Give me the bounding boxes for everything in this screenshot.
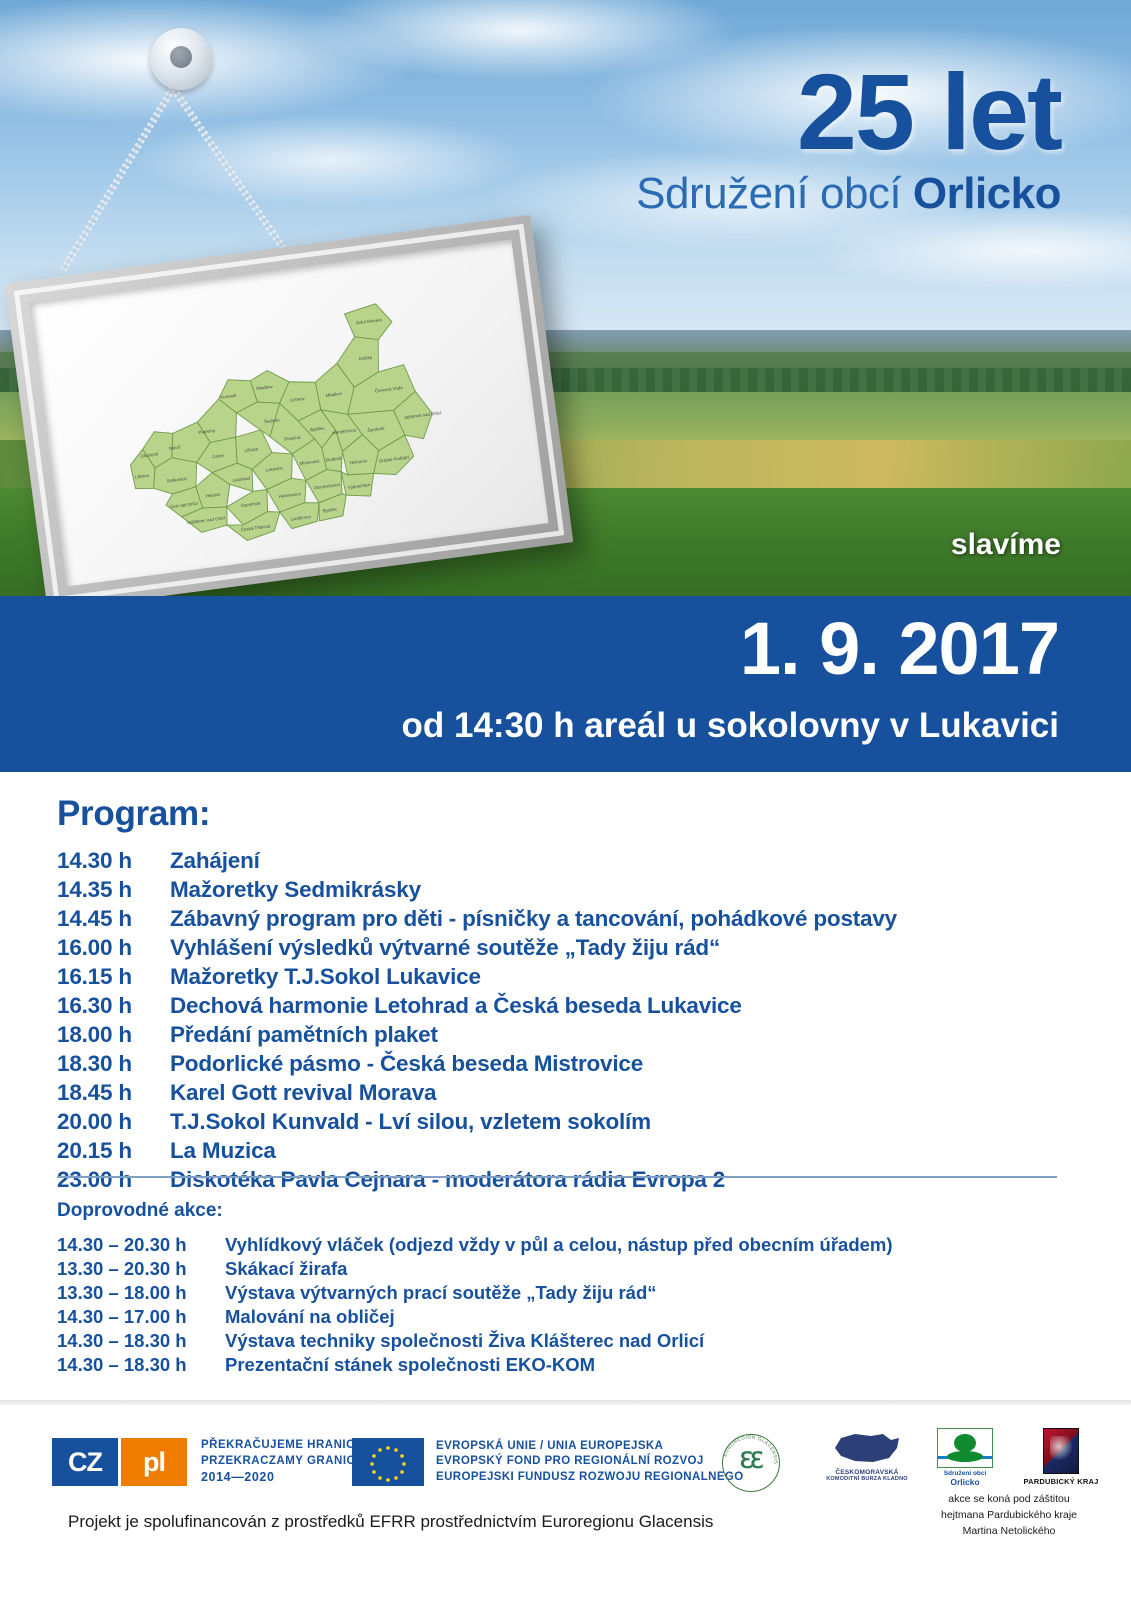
cmkb-line2: KOMODITNÍ BURZA KLADNO [812, 1476, 922, 1482]
program-time: 14.35 h [57, 877, 170, 903]
patronage-note: akce se koná pod záštitou hejtmana Pardu… [909, 1492, 1109, 1539]
accompanying-row: 14.30 – 18.30 h Prezentační stánek spole… [57, 1354, 1067, 1376]
accompanying-label: Malování na obličej [225, 1306, 395, 1328]
program-row: 16.15 h Mažoretky T.J.Sokol Lukavice [57, 964, 1067, 990]
anniversary-title: 25 let [636, 58, 1061, 166]
program-row: 20.00 h T.J.Sokol Kunvald - Lví silou, v… [57, 1109, 1067, 1135]
program-row: 14.45 h Zábavný program pro děti - písni… [57, 906, 1067, 932]
accompanying-time: 14.30 – 18.30 h [57, 1354, 225, 1376]
eu-text-block: EVROPSKÁ UNIE / UNIA EUROPEJSKA EVROPSKÝ… [436, 1439, 744, 1486]
czpl-line1: PŘEKRAČUJEME HRANICE [201, 1438, 364, 1453]
cmkb-shape: B [825, 1428, 909, 1468]
program-row: 23.00 h Diskotéka Pavla Cejnara - moderá… [57, 1167, 1067, 1193]
czpl-pl-block: pl [121, 1438, 187, 1486]
patronage-line3: Martina Netolického [909, 1524, 1109, 1540]
glacensis-ring-text: EUROREGION GLACENSIS [718, 1430, 782, 1494]
program-time: 18.45 h [57, 1080, 170, 1106]
program-row: 18.30 h Podorlické pásmo - Česká beseda … [57, 1051, 1067, 1077]
program-time: 18.30 h [57, 1051, 170, 1077]
pardubicky-label: PARDUBICKÝ KRAJ [1018, 1477, 1104, 1486]
pardubicky-coat-of-arms-icon [1043, 1428, 1079, 1474]
program-time: 14.30 h [57, 848, 170, 874]
accompanying-row: 14.30 – 20.30 h Vyhlídkový vláček (odjez… [57, 1234, 1067, 1256]
program-label: Podorlické pásmo - Česká beseda Mistrovi… [170, 1051, 643, 1077]
accompanying-row: 14.30 – 18.30 h Výstava techniky společn… [57, 1330, 1067, 1352]
funding-note: Projekt je spolufinancován z prostředků … [68, 1512, 713, 1532]
accompanying-label: Vyhlídkový vláček (odjezd vždy v půl a c… [225, 1234, 893, 1256]
accompanying-label: Výstava výtvarných prací soutěže „Tady ž… [225, 1282, 657, 1304]
eu-stars-svg [352, 1438, 424, 1486]
program-label: T.J.Sokol Kunvald - Lví silou, vzletem s… [170, 1109, 651, 1135]
program-heading: Program: [57, 794, 210, 834]
accompanying-heading: Doprovodné akce: [57, 1200, 223, 1222]
footer-divider [0, 1400, 1131, 1405]
frame-bevel [14, 224, 565, 602]
program-time: 16.00 h [57, 935, 170, 961]
program-time: 20.15 h [57, 1138, 170, 1164]
poster: 25 let Sdružení obcí Orlicko slavíme [0, 0, 1131, 1600]
program-time: 23.00 h [57, 1167, 170, 1193]
program-time: 20.00 h [57, 1109, 170, 1135]
accompanying-time: 14.30 – 17.00 h [57, 1306, 225, 1328]
program-label: Dechová harmonie Letohrad a Česká beseda… [170, 993, 742, 1019]
program-label: Diskotéka Pavla Cejnara - moderátora rád… [170, 1167, 725, 1193]
program-time: 18.00 h [57, 1022, 170, 1048]
section-divider [57, 1176, 1057, 1178]
eu-line1: EVROPSKÁ UNIE / UNIA EUROPEJSKA [436, 1439, 744, 1455]
accompanying-time: 13.30 – 20.30 h [57, 1258, 225, 1280]
accompanying-list: 14.30 – 20.30 h Vyhlídkový vláček (odjez… [57, 1234, 1067, 1378]
orlicko-line2: Orlicko [932, 1477, 998, 1487]
accompanying-label: Výstava techniky společnosti Živa Klášte… [225, 1330, 704, 1352]
accompanying-row: 13.30 – 20.30 h Skákací žirafa [57, 1258, 1067, 1280]
map-frame: Dolní Morava Králíky Mladkov Červená Vod… [5, 215, 574, 611]
orlicko-mark [937, 1428, 993, 1468]
event-place: od 14:30 h areál u sokolovny v Lukavici [402, 708, 1059, 743]
accompanying-row: 13.30 – 18.00 h Výstava výtvarných prací… [57, 1282, 1067, 1304]
patronage-line1: akce se koná pod záštitou [909, 1492, 1109, 1508]
content-area: Program: 14.30 h Zahájení 14.35 h Mažore… [0, 772, 1131, 1412]
logo-pardubicky-kraj: PARDUBICKÝ KRAJ [1018, 1428, 1104, 1486]
program-row: 18.00 h Předání pamětních plaket [57, 1022, 1067, 1048]
orlicko-line1: Sdružení obcí [932, 1470, 998, 1477]
logo-ceskomoravska-burza: B ČESKOMORAVSKÁ KOMODITNÍ BURZA KLADNO [812, 1428, 922, 1494]
orlicko-sun-shape [954, 1434, 976, 1452]
program-label: La Muzica [170, 1138, 276, 1164]
organisation-name: Orlicko [913, 169, 1061, 218]
program-row: 18.45 h Karel Gott revival Morava [57, 1080, 1067, 1106]
accompanying-label: Skákací žirafa [225, 1258, 347, 1280]
logo-european-union: EVROPSKÁ UNIE / UNIA EUROPEJSKA EVROPSKÝ… [352, 1438, 744, 1486]
glacensis-name: EUROREGION GLACENSIS [722, 1434, 778, 1464]
cmkb-letter: B [825, 1428, 909, 1468]
logo-cz-pl: CZ pl PŘEKRAČUJEME HRANICE PRZEKRACZAMY … [52, 1438, 364, 1486]
program-label: Zahájení [170, 848, 260, 874]
accompanying-row: 14.30 – 17.00 h Malování na obličej [57, 1306, 1067, 1328]
program-list: 14.30 h Zahájení 14.35 h Mažoretky Sedmi… [57, 848, 1067, 1196]
poster-title-block: 25 let Sdružení obcí Orlicko [636, 58, 1061, 216]
accompanying-time: 14.30 – 18.30 h [57, 1330, 225, 1352]
program-row: 20.15 h La Muzica [57, 1138, 1067, 1164]
logo-euroregion-glacensis: ℇℇ EUROREGION GLACENSIS [718, 1430, 786, 1492]
cmkb-line1: ČESKOMORAVSKÁ [812, 1469, 922, 1476]
program-row: 16.00 h Vyhlášení výsledků výtvarné sout… [57, 935, 1067, 961]
eu-line3: EUROPEJSKI FUNDUSZ ROZWOJU REGIONALNEGO [436, 1470, 744, 1486]
program-time: 16.15 h [57, 964, 170, 990]
svg-text:EUROREGION GLACENSIS: EUROREGION GLACENSIS [722, 1434, 778, 1464]
organisation-title: Sdružení obcí Orlicko [636, 172, 1061, 216]
accompanying-label: Prezentační stánek společnosti EKO-KOM [225, 1354, 595, 1376]
program-label: Karel Gott revival Morava [170, 1080, 436, 1106]
accompanying-time: 13.30 – 18.00 h [57, 1282, 225, 1304]
patronage-line2: hejtmana Pardubického kraje [909, 1508, 1109, 1524]
program-label: Vyhlášení výsledků výtvarné soutěže „Tad… [170, 935, 720, 961]
logo-sdruzeni-obci-orlicko: Sdružení obcí Orlicko [932, 1428, 998, 1487]
czpl-line2: PRZEKRACZAMY GRANICE [201, 1454, 364, 1469]
footer: CZ pl PŘEKRAČUJEME HRANICE PRZEKRACZAMY … [0, 1400, 1131, 1600]
eu-flag-icon [352, 1438, 424, 1486]
orlicko-hill-shape [947, 1451, 983, 1462]
accompanying-time: 14.30 – 20.30 h [57, 1234, 225, 1256]
program-label: Mažoretky Sedmikrásky [170, 877, 421, 903]
program-label: Předání pamětních plaket [170, 1022, 438, 1048]
program-time: 14.45 h [57, 906, 170, 932]
czpl-text-block: PŘEKRAČUJEME HRANICE PRZEKRACZAMY GRANIC… [201, 1438, 364, 1485]
eu-line2: EVROPSKÝ FOND PRO REGIONÁLNÍ ROZVOJ [436, 1454, 744, 1470]
program-row: 14.35 h Mažoretky Sedmikrásky [57, 877, 1067, 903]
program-label: Zábavný program pro děti - písničky a ta… [170, 906, 897, 932]
celebrate-label: slavíme [951, 528, 1061, 562]
czpl-years: 2014—2020 [201, 1469, 364, 1486]
program-row: 16.30 h Dechová harmonie Letohrad a Česk… [57, 993, 1067, 1019]
organisation-prefix: Sdružení obcí [636, 169, 913, 218]
program-row: 14.30 h Zahájení [57, 848, 1067, 874]
program-time: 16.30 h [57, 993, 170, 1019]
czpl-cz-block: CZ [52, 1438, 118, 1486]
event-date: 1. 9. 2017 [740, 612, 1059, 686]
program-label: Mažoretky T.J.Sokol Lukavice [170, 964, 481, 990]
wall-hook-icon [150, 28, 212, 90]
